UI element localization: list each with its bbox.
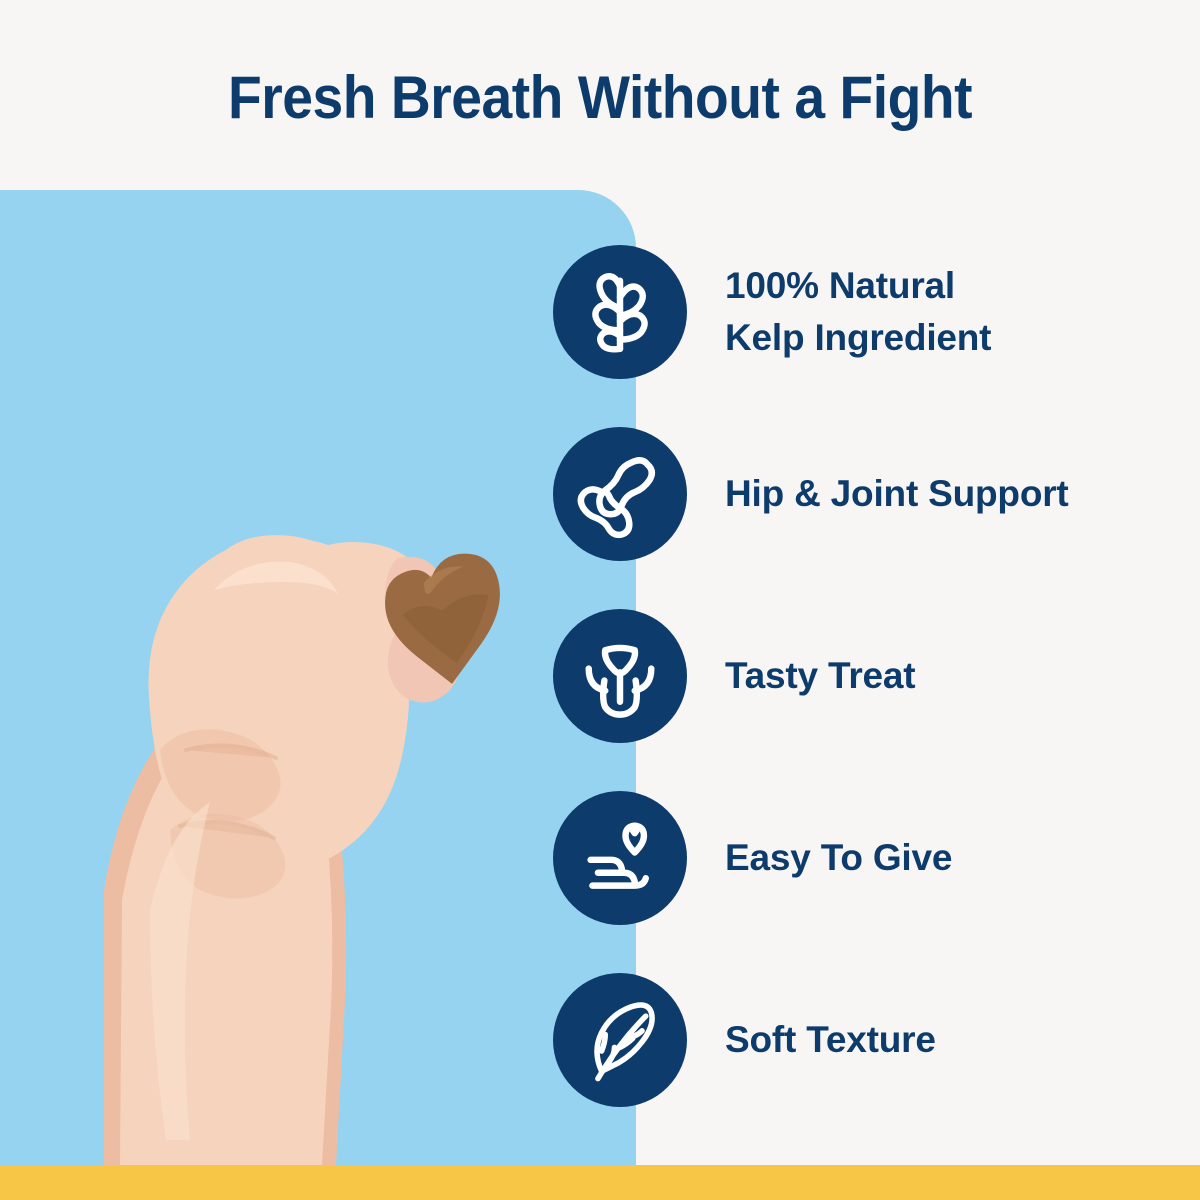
feature-label-line1: Hip & Joint Support	[725, 468, 1069, 520]
feature-label-kelp: 100% Natural Kelp Ingredient	[725, 245, 991, 379]
feature-label-line2: Kelp Ingredient	[725, 312, 991, 364]
feature-label-line1: Easy To Give	[725, 832, 952, 884]
feather-icon	[553, 973, 687, 1107]
footer-accent-bar	[0, 1165, 1200, 1200]
feature-item-tasty-treat: Tasty Treat	[553, 609, 1193, 791]
infographic-canvas: Fresh Breath Without a Fight	[0, 0, 1200, 1200]
feature-item-easy-to-give: Easy To Give	[553, 791, 1193, 973]
feature-item-soft-texture: Soft Texture	[553, 973, 1193, 1155]
feature-item-hip-joint: Hip & Joint Support	[553, 427, 1193, 609]
feature-label-soft-texture: Soft Texture	[725, 973, 936, 1107]
feature-label-line1: Soft Texture	[725, 1014, 936, 1066]
feature-list: 100% Natural Kelp Ingredient Hip & Joint…	[553, 245, 1193, 1155]
dog-muzzle-tongue-icon	[553, 609, 687, 743]
feature-label-easy-to-give: Easy To Give	[725, 791, 952, 925]
feature-label-line1: 100% Natural	[725, 260, 991, 312]
kelp-leaf-icon	[553, 245, 687, 379]
feature-item-kelp: 100% Natural Kelp Ingredient	[553, 245, 1193, 427]
page-title: Fresh Breath Without a Fight	[48, 62, 1152, 134]
product-photo-panel	[0, 190, 636, 1165]
feature-label-hip-joint: Hip & Joint Support	[725, 427, 1069, 561]
bone-joint-icon	[553, 427, 687, 561]
feature-label-tasty-treat: Tasty Treat	[725, 609, 915, 743]
hand-holding-treat-image	[0, 190, 636, 1165]
hand-heart-icon	[553, 791, 687, 925]
feature-label-line1: Tasty Treat	[725, 650, 915, 702]
